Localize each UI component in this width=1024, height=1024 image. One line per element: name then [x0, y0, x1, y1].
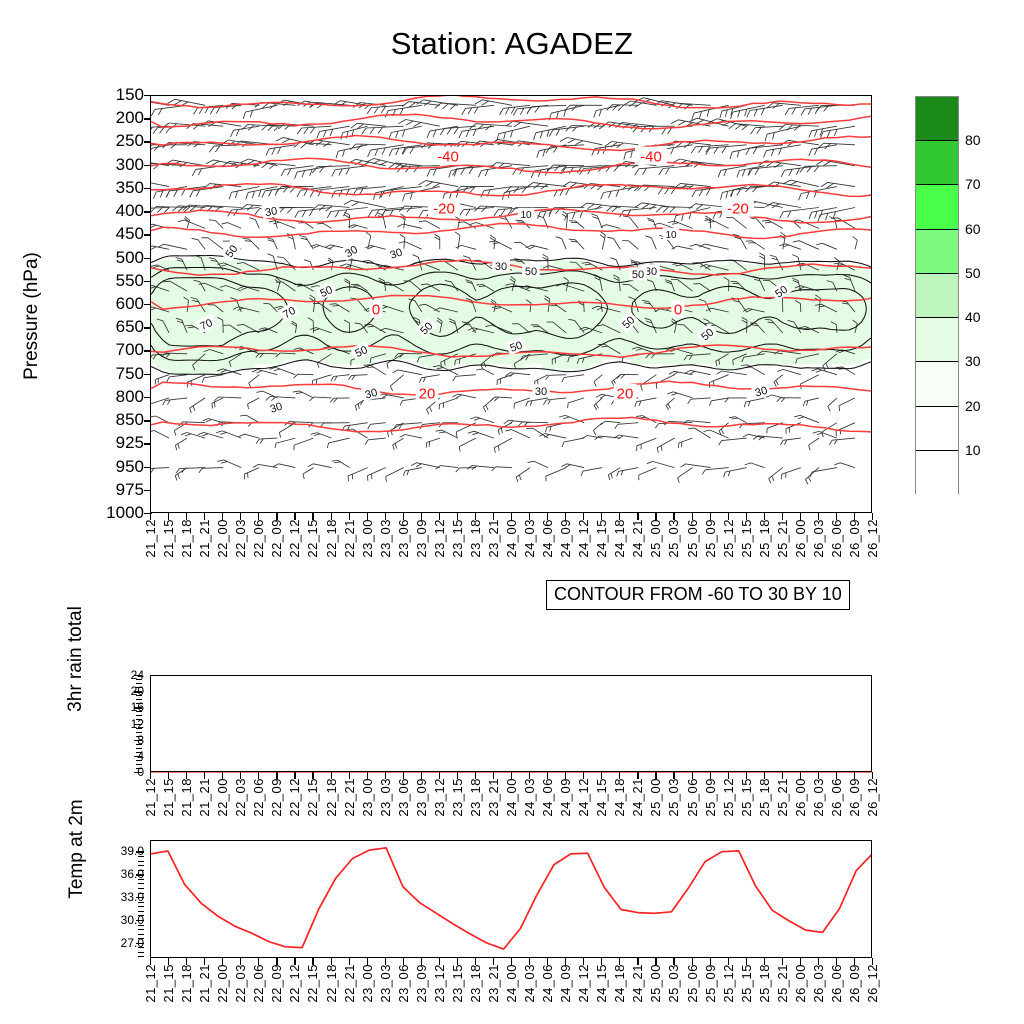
y-tick-label: 925: [84, 433, 144, 453]
y-tick-label: 200: [84, 108, 144, 128]
temp-series-svg: [151, 841, 872, 958]
rain-panel-y-ticks: 24201612840: [104, 675, 144, 772]
x-tick-label: 22_18: [324, 519, 339, 558]
x-tick-label: 24_00: [504, 964, 519, 1003]
x-tick-label: 25_03: [666, 519, 681, 558]
temp-y-tick-mark: [136, 920, 144, 921]
x-tick-label: 23_18: [468, 964, 483, 1003]
y-tick-label: 150: [84, 85, 144, 105]
x-tick-label: 22_12: [287, 964, 302, 1003]
x-tick-label: 25_15: [739, 964, 754, 1003]
x-tick-label: 26_09: [847, 778, 862, 817]
svg-text:0: 0: [372, 302, 380, 319]
x-tick-label: 22_06: [251, 778, 266, 817]
svg-text:20: 20: [617, 386, 634, 403]
x-tick-label: 24_09: [558, 778, 573, 817]
rain-y-tick-mark: [134, 756, 142, 757]
colorbar-tick-label: 10: [965, 442, 981, 458]
x-tick-label: 21_12: [143, 964, 158, 1003]
y-tick-label: 600: [84, 294, 144, 314]
x-tick-label: 21_18: [179, 519, 194, 558]
x-tick-label: 23_00: [360, 964, 375, 1003]
y-tick-label: 975: [84, 480, 144, 500]
rain-y-tick-mark: [134, 740, 142, 741]
colorbar-tick-label: 60: [965, 221, 981, 237]
colorbar-tick-label: 20: [965, 398, 981, 414]
svg-text:50: 50: [632, 269, 644, 281]
x-tick-label: 26_03: [811, 519, 826, 558]
colorbar-labels: 8070605040302010: [915, 96, 1024, 494]
x-tick-label: 21_21: [197, 519, 212, 558]
x-tick-label: 22_15: [305, 964, 320, 1003]
x-tick-label: 24_09: [558, 519, 573, 558]
temp-panel-y-ticks: 39.036.033.030.027.0: [94, 840, 144, 958]
x-tick-label: 25_15: [739, 778, 754, 817]
x-tick-label: 26_09: [847, 964, 862, 1003]
x-tick-label: 24_00: [504, 519, 519, 558]
x-tick-label: 23_15: [450, 778, 465, 817]
svg-text:-40: -40: [640, 149, 662, 166]
y-tick-label: 500: [84, 248, 144, 268]
temp-y-minor-tick: [138, 861, 144, 862]
x-tick-label: 24_03: [522, 964, 537, 1003]
x-tick-label: 25_21: [775, 778, 790, 817]
rain-total-plot: [150, 675, 872, 772]
y-tick-label: 700: [84, 340, 144, 360]
x-tick-label: 23_21: [486, 519, 501, 558]
rain-y-minor-tick: [136, 728, 142, 729]
x-tick-label: 25_12: [721, 778, 736, 817]
x-tick-label: 24_06: [540, 964, 555, 1003]
x-tick-label: 25_03: [666, 964, 681, 1003]
rain-y-tick-mark: [134, 707, 142, 708]
x-tick-label: 23_18: [468, 778, 483, 817]
rain-y-minor-tick: [136, 744, 142, 745]
rain-y-minor-tick: [136, 711, 142, 712]
x-tick-label: 26_06: [829, 778, 844, 817]
x-tick-label: 21_15: [161, 964, 176, 1003]
y-tick-label: 550: [84, 271, 144, 291]
x-tick-label: 23_09: [414, 964, 429, 1003]
svg-text:30: 30: [264, 205, 278, 219]
temp-panel-y-axis-label: Temp at 2m: [66, 754, 88, 944]
x-tick-label: 24_03: [522, 519, 537, 558]
x-tick-label: 21_12: [143, 519, 158, 558]
x-tick-label: 22_21: [342, 778, 357, 817]
temp-y-minor-tick: [138, 947, 144, 948]
temp-y-minor-tick: [138, 883, 144, 884]
rain-y-tick-mark: [134, 772, 142, 773]
x-tick-label: 22_03: [233, 964, 248, 1003]
temp-y-minor-tick: [138, 952, 144, 953]
x-tick-label: 26_06: [829, 964, 844, 1003]
x-tick-label: 24_21: [630, 964, 645, 1003]
colorbar-tick-label: 50: [965, 265, 981, 281]
x-tick-label: 22_03: [233, 519, 248, 558]
y-tick-label: 300: [84, 155, 144, 175]
temp-y-tick-mark: [136, 874, 144, 875]
x-tick-label: 25_09: [703, 964, 718, 1003]
x-tick-label: 23_12: [432, 964, 447, 1003]
x-tick-label: 23_21: [486, 964, 501, 1003]
temp-y-tick-mark: [136, 943, 144, 944]
x-tick-label: 21_21: [197, 964, 212, 1003]
x-tick-label: 24_12: [576, 519, 591, 558]
colorbar-tick-label: 30: [965, 353, 981, 369]
y-tick-label: 1000: [84, 503, 144, 523]
rain-y-tick-mark: [134, 675, 142, 676]
svg-text:10: 10: [665, 230, 677, 241]
x-tick-label: 22_18: [324, 778, 339, 817]
temp-y-minor-tick: [138, 906, 144, 907]
svg-text:-40: -40: [437, 149, 459, 166]
x-tick-label: 23_15: [450, 519, 465, 558]
x-tick-label: 22_06: [251, 519, 266, 558]
rain-panel-y-axis-label: 3hr rain total: [65, 579, 87, 739]
y-tick-label: 650: [84, 317, 144, 337]
x-tick-label: 26_12: [865, 964, 880, 1003]
x-tick-label: 24_06: [540, 519, 555, 558]
x-tick-label: 22_00: [215, 519, 230, 558]
x-tick-label: 24_15: [594, 778, 609, 817]
x-tick-label: 26_00: [793, 519, 808, 558]
x-tick-label: 24_12: [576, 964, 591, 1003]
main-panel-y-ticks: 1502002503003504004505005506006507007508…: [82, 95, 144, 513]
x-tick-label: 23_12: [432, 519, 447, 558]
rain-y-tick-mark: [134, 691, 142, 692]
x-tick-label: 24_09: [558, 964, 573, 1003]
temp-y-minor-tick: [138, 934, 144, 935]
x-tick-label: 22_03: [233, 778, 248, 817]
x-tick-label: 22_12: [287, 519, 302, 558]
x-tick-label: 26_12: [865, 519, 880, 558]
x-tick-label: 26_06: [829, 519, 844, 558]
x-tick-label: 25_00: [648, 519, 663, 558]
x-tick-label: 23_00: [360, 778, 375, 817]
x-tick-label: 26_00: [793, 964, 808, 1003]
x-tick-label: 22_21: [342, 964, 357, 1003]
x-tick-label: 25_03: [666, 778, 681, 817]
temp-y-tick-mark: [136, 897, 144, 898]
temp-y-minor-tick: [138, 888, 144, 889]
rain-y-tick-mark: [134, 724, 142, 725]
x-tick-label: 22_21: [342, 519, 357, 558]
x-tick-label: 24_06: [540, 778, 555, 817]
x-tick-label: 23_00: [360, 519, 375, 558]
x-tick-label: 23_18: [468, 519, 483, 558]
temp-y-minor-tick: [138, 925, 144, 926]
rain-y-minor-tick: [136, 760, 142, 761]
x-tick-label: 23_06: [396, 964, 411, 1003]
y-tick-label: 800: [84, 387, 144, 407]
x-tick-label: 25_12: [721, 519, 736, 558]
x-tick-label: 25_06: [685, 778, 700, 817]
x-tick-label: 23_21: [486, 778, 501, 817]
x-tick-label: 24_18: [612, 964, 627, 1003]
x-tick-label: 25_18: [757, 964, 772, 1003]
colorbar-tick-label: 40: [965, 309, 981, 325]
x-tick-label: 26_03: [811, 964, 826, 1003]
x-tick-label: 22_09: [269, 519, 284, 558]
temp-y-minor-tick: [138, 856, 144, 857]
y-tick-label: 350: [84, 178, 144, 198]
x-tick-label: 22_15: [305, 519, 320, 558]
rain-series-svg: [151, 676, 873, 773]
x-tick-label: 25_21: [775, 519, 790, 558]
rain-y-minor-tick: [136, 679, 142, 680]
svg-text:20: 20: [419, 386, 436, 403]
x-tick-label: 21_18: [179, 778, 194, 817]
x-tick-label: 24_18: [612, 519, 627, 558]
x-tick-label: 25_12: [721, 964, 736, 1003]
x-tick-label: 22_15: [305, 778, 320, 817]
x-tick-label: 25_18: [757, 519, 772, 558]
x-tick-label: 21_12: [143, 778, 158, 817]
x-tick-label: 26_00: [793, 778, 808, 817]
x-tick-label: 21_21: [197, 778, 212, 817]
x-tick-label: 24_03: [522, 778, 537, 817]
x-tick-label: 22_06: [251, 964, 266, 1003]
colorbar-tick-label: 80: [965, 132, 981, 148]
x-tick-label: 22_09: [269, 778, 284, 817]
x-tick-label: 23_12: [432, 778, 447, 817]
x-tick-label: 25_09: [703, 519, 718, 558]
cross-section-svg: -40-40-20-200020203010105030303030505050…: [151, 96, 872, 513]
x-tick-label: 24_15: [594, 519, 609, 558]
x-tick-label: 23_03: [378, 778, 393, 817]
x-tick-label: 22_00: [215, 778, 230, 817]
x-tick-label: 26_03: [811, 778, 826, 817]
humidity-temperature-cross-section-plot: -40-40-20-200020203010105030303030505050…: [150, 95, 872, 513]
temp-y-minor-tick: [138, 879, 144, 880]
temp-y-minor-tick: [138, 911, 144, 912]
temperature-2m-plot: [150, 840, 872, 958]
svg-text:-20: -20: [433, 201, 455, 218]
x-tick-label: 24_12: [576, 778, 591, 817]
svg-text:0: 0: [674, 302, 682, 319]
x-tick-label: 24_21: [630, 778, 645, 817]
x-tick-label: 23_03: [378, 519, 393, 558]
x-tick-label: 22_09: [269, 964, 284, 1003]
x-tick-label: 22_00: [215, 964, 230, 1003]
x-tick-label: 23_09: [414, 519, 429, 558]
x-tick-label: 25_06: [685, 964, 700, 1003]
svg-text:10: 10: [520, 210, 532, 221]
y-tick-label: 750: [84, 364, 144, 384]
x-tick-label: 24_15: [594, 964, 609, 1003]
temp-y-minor-tick: [138, 865, 144, 866]
temp-y-minor-tick: [138, 929, 144, 930]
x-tick-label: 23_15: [450, 964, 465, 1003]
x-tick-label: 26_12: [865, 778, 880, 817]
y-tick-label: 250: [84, 131, 144, 151]
x-tick-label: 24_00: [504, 778, 519, 817]
x-tick-label: 25_00: [648, 964, 663, 1003]
y-tick-label: 450: [84, 224, 144, 244]
rain-y-minor-tick: [136, 695, 142, 696]
x-tick-label: 25_15: [739, 519, 754, 558]
x-tick-label: 24_21: [630, 519, 645, 558]
x-tick-label: 22_18: [324, 964, 339, 1003]
temp-y-tick-mark: [136, 851, 144, 852]
svg-text:30: 30: [535, 386, 547, 398]
x-tick-label: 21_15: [161, 519, 176, 558]
x-tick-label: 23_06: [396, 519, 411, 558]
page-title: Station: AGADEZ: [0, 26, 1024, 62]
x-tick-label: 26_09: [847, 519, 862, 558]
x-tick-label: 25_18: [757, 778, 772, 817]
x-tick-label: 23_06: [396, 778, 411, 817]
x-tick-label: 25_09: [703, 778, 718, 817]
x-tick-label: 21_15: [161, 778, 176, 817]
x-tick-label: 23_03: [378, 964, 393, 1003]
x-tick-label: 25_06: [685, 519, 700, 558]
temp-y-minor-tick: [138, 956, 144, 957]
x-tick-label: 25_00: [648, 778, 663, 817]
svg-text:50: 50: [525, 266, 537, 278]
temp-y-minor-tick: [138, 902, 144, 903]
y-tick-label: 850: [84, 410, 144, 430]
x-tick-label: 24_18: [612, 778, 627, 817]
y-tick-label: 950: [84, 457, 144, 477]
x-tick-label: 23_09: [414, 778, 429, 817]
svg-text:-20: -20: [727, 201, 749, 218]
svg-text:30: 30: [495, 261, 507, 273]
y-tick-label: 400: [84, 201, 144, 221]
main-panel-y-axis-label: Pressure (hPa): [21, 136, 43, 496]
contour-interval-caption: CONTOUR FROM -60 TO 30 BY 10: [546, 580, 850, 610]
x-tick-label: 22_12: [287, 778, 302, 817]
colorbar-tick-label: 70: [965, 176, 981, 192]
x-tick-label: 25_21: [775, 964, 790, 1003]
x-tick-label: 21_18: [179, 964, 194, 1003]
